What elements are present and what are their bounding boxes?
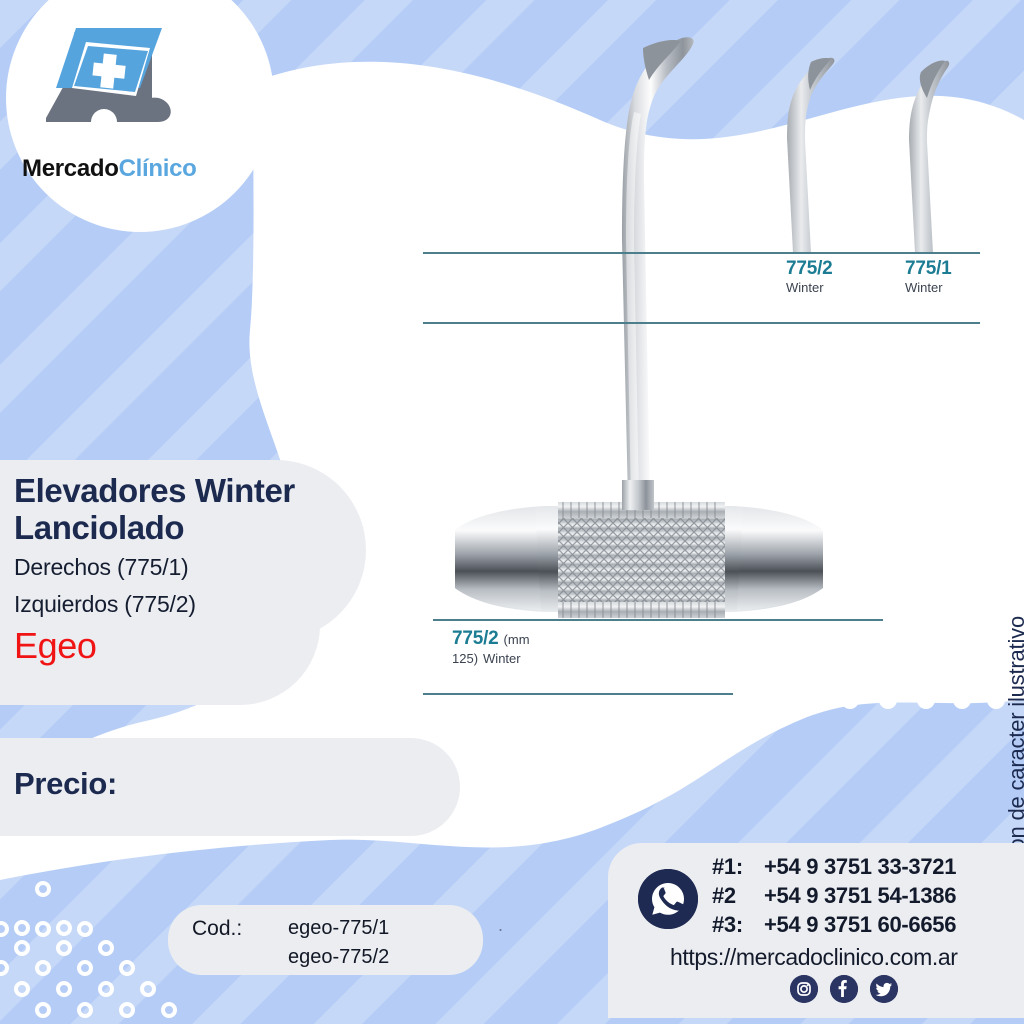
whatsapp-icon[interactable] (638, 869, 698, 929)
phone-row-1[interactable]: #1: +54 9 3751 33-3721 (712, 852, 956, 881)
phone-tag-1: #1: (712, 852, 748, 881)
catalog-name-2: Winter (905, 280, 952, 295)
catalog-code-2: 775/1 (905, 258, 952, 280)
product-title-block: Elevadores Winter Lanciolado Derechos (7… (14, 472, 434, 666)
variant-left-label: Izquierdos (775/2) (14, 589, 434, 620)
facebook-icon[interactable] (830, 975, 858, 1003)
phone-row-2[interactable]: #2 +54 9 3751 54-1386 (712, 881, 956, 910)
logo-word-clinico: Clínico (119, 155, 197, 182)
catalog-code-1: 775/2 (786, 258, 833, 280)
social-links (790, 975, 898, 1003)
code-values: egeo-775/1 egeo-775/2 (288, 914, 389, 972)
catalog-label-775-1: 775/1 Winter (905, 258, 952, 295)
promo-card: MercadoClínico Elevadores Winter Lanciol… (0, 0, 1024, 1024)
page-title-line2: Lanciolado (14, 509, 434, 546)
product-photo (415, 10, 990, 710)
code-label: Cod.: (192, 917, 242, 941)
website-link[interactable]: https://mercadoclinico.com.ar (670, 944, 958, 971)
phone-list: #1: +54 9 3751 33-3721 #2 +54 9 3751 54-… (712, 852, 956, 939)
phone-number-3: +54 9 3751 60-6656 (764, 910, 956, 939)
price-label: Precio: (14, 766, 117, 802)
instagram-icon[interactable] (790, 975, 818, 1003)
shopping-cart-medical-cross-logo-icon (40, 18, 200, 148)
main-catalog-code: 775/2 (452, 628, 499, 650)
decorative-dot: . (498, 915, 503, 936)
twitter-icon[interactable] (870, 975, 898, 1003)
main-catalog-name: Winter (483, 651, 521, 666)
logo-wordmark: MercadoClínico (22, 155, 252, 183)
catalog-name-1: Winter (786, 280, 833, 295)
phone-number-1: +54 9 3751 33-3721 (764, 852, 956, 881)
phone-number-2: +54 9 3751 54-1386 (764, 881, 956, 910)
main-catalog-spec: (mm (504, 632, 530, 647)
code-value-1: egeo-775/1 (288, 914, 389, 943)
logo-word-mercado: Mercado (22, 155, 119, 182)
brand-name-label: Egeo (14, 626, 434, 666)
phone-row-3[interactable]: #3: +54 9 3751 60-6656 (712, 910, 956, 939)
variant-right-label: Derechos (775/1) (14, 552, 434, 583)
phone-tag-3: #3: (712, 910, 748, 939)
main-catalog-spec2: 125) (452, 651, 478, 666)
main-catalog-label: 775/2 (mm 125) Winter (452, 628, 530, 666)
page-title-line1: Elevadores Winter (14, 472, 434, 509)
phone-tag-2: #2 (712, 881, 748, 910)
catalog-label-775-2: 775/2 Winter (786, 258, 833, 295)
code-value-2: egeo-775/2 (288, 943, 389, 972)
